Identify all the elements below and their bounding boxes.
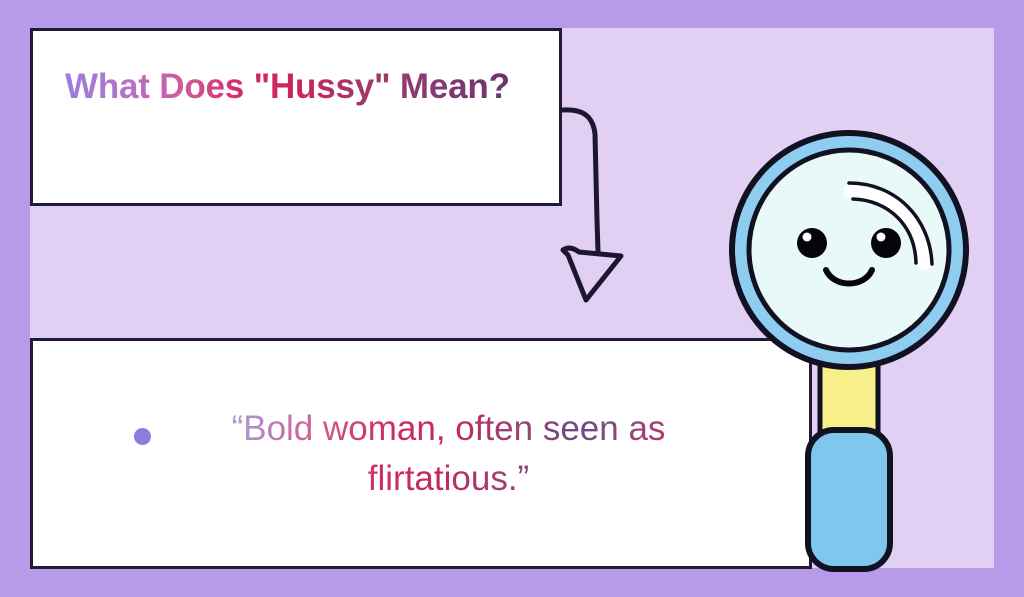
curved-down-arrow-icon [545,100,655,310]
magnifying-glass-illustration [716,125,984,573]
magnifier-handle-icon [808,430,890,569]
bullet-point-icon [134,428,151,445]
left-eye-highlight-icon [803,233,812,242]
infographic-canvas: What Does "Hussy" Mean? “Bold woman, oft… [0,0,1024,597]
definition-card: “Bold woman, often seen as flirtatious.” [30,338,812,569]
definition-row: “Bold woman, often seen as flirtatious.” [33,341,809,566]
right-eye-highlight-icon [877,233,886,242]
definition-text: “Bold woman, often seen as flirtatious.” [189,404,709,503]
title-card: What Does "Hussy" Mean? [30,28,562,206]
page-title: What Does "Hussy" Mean? [65,67,510,107]
left-eye-icon [797,228,827,258]
right-eye-icon [871,228,901,258]
